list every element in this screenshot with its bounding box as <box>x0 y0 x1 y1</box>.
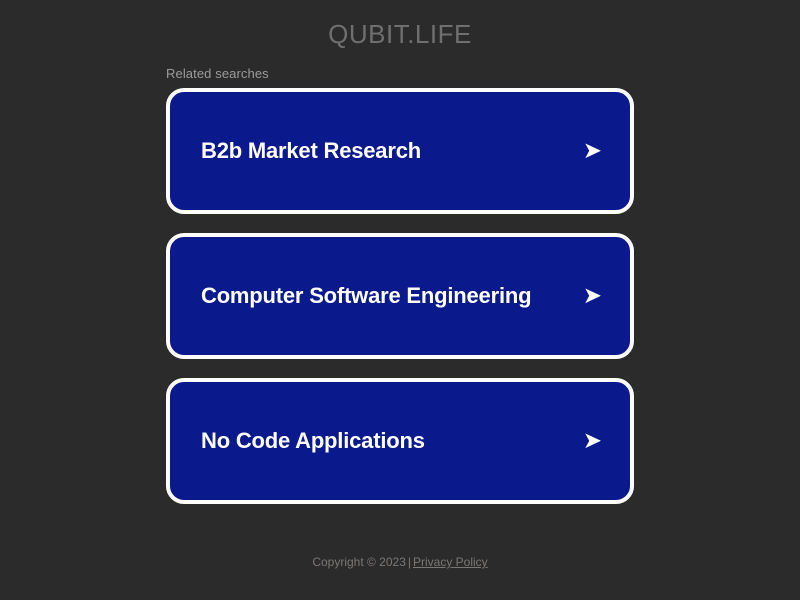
privacy-policy-link[interactable]: Privacy Policy <box>413 555 488 569</box>
related-search-item-1-label: B2b Market Research <box>201 138 421 164</box>
footer: Copyright © 2023|Privacy Policy <box>0 554 800 570</box>
related-search-item-3-label: No Code Applications <box>201 428 425 454</box>
footer-separator: | <box>406 555 413 569</box>
arrow-right-icon: ➤ <box>583 284 602 307</box>
related-search-item-3-content: No Code Applications ➤ <box>170 382 630 500</box>
related-search-item-2-content: Computer Software Engineering ➤ <box>170 237 630 355</box>
arrow-right-icon: ➤ <box>583 139 602 162</box>
related-search-item-2-label: Computer Software Engineering <box>201 283 531 309</box>
related-searches-label: Related searches <box>166 66 269 82</box>
related-search-item-3[interactable]: No Code Applications ➤ <box>166 378 634 504</box>
arrow-right-icon: ➤ <box>583 429 602 452</box>
copyright-text: Copyright © 2023 <box>312 555 406 569</box>
related-search-item-1-content: B2b Market Research ➤ <box>170 92 630 210</box>
page-title: QUBIT.LIFE <box>0 18 800 50</box>
related-searches-list: B2b Market Research ➤ Computer Software … <box>166 88 634 523</box>
parked-domain-page: QUBIT.LIFE Related searches B2b Market R… <box>0 0 800 600</box>
related-search-item-1[interactable]: B2b Market Research ➤ <box>166 88 634 214</box>
related-search-item-2[interactable]: Computer Software Engineering ➤ <box>166 233 634 359</box>
